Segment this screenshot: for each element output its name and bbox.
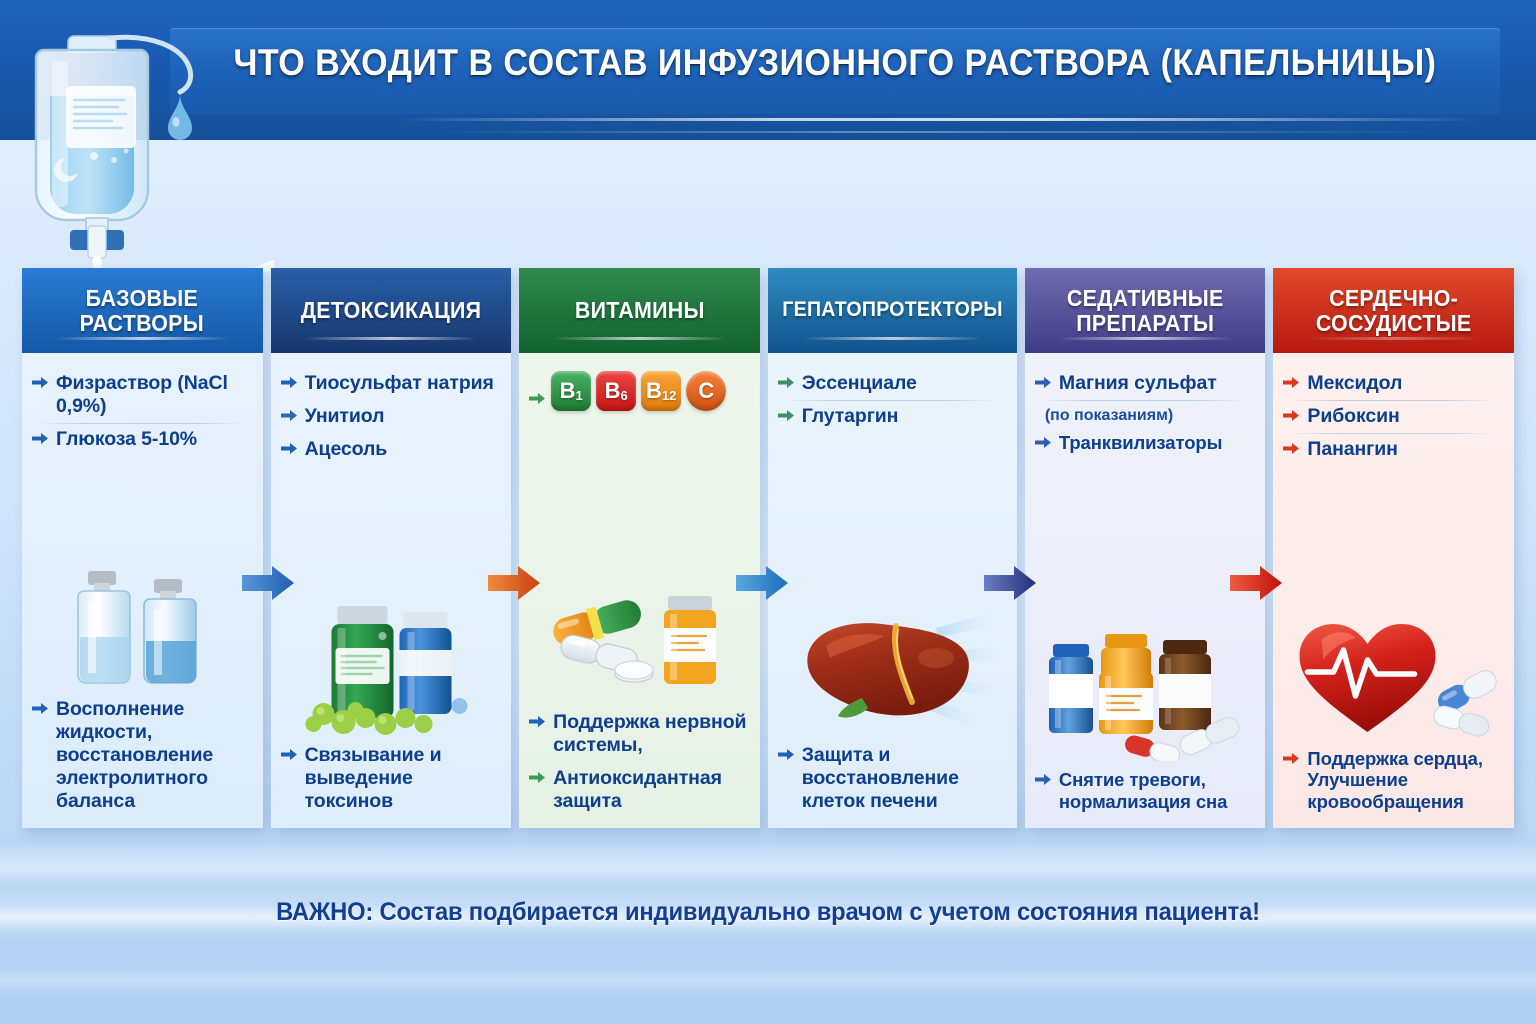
vitamin-badge-label: B (560, 378, 576, 404)
item-list: Эссенциале Глутаргин (778, 367, 1005, 433)
arrow-bullet-icon (281, 376, 298, 389)
column-header-base-solutions: БАЗОВЫЕ РАСТВОРЫ (22, 268, 263, 353)
header-shine (553, 337, 726, 340)
item-list: Тиосульфат натрия Унитиол Ацесоль (281, 367, 500, 466)
outcome-row: Восполнение жидкости, восстановление эле… (32, 694, 251, 818)
outcome-row: Снятие тревоги, нормализация сна (1035, 765, 1254, 818)
arrow-bullet-icon (32, 702, 49, 715)
arrow-5-6 (1230, 562, 1292, 604)
vitamin-badge-b1: B1 (551, 371, 591, 411)
column-vitamins[interactable]: ВИТАМИНЫ B1 B6 B12 C (519, 268, 760, 828)
list-item[interactable]: Эссенциале (778, 367, 1005, 400)
list-item-label: Тиосульфат натрия (305, 372, 494, 395)
item-list: Физраствор (NaCl 0,9%) Глюкоза 5-10% (32, 367, 251, 456)
outcome-label: Снятие тревоги, нормализация сна (1059, 769, 1254, 813)
arrow-4-5 (984, 562, 1046, 604)
arrow-bullet-icon (32, 432, 49, 445)
outcome-label: Поддержка сердца, Улучшение кровообращен… (1307, 748, 1502, 813)
list-item[interactable]: Глюкоза 5-10% (32, 423, 251, 456)
arrow-bullet-icon (32, 376, 49, 389)
background-streak (0, 965, 1536, 995)
arrow-bullet-icon (1283, 409, 1300, 422)
list-item-label: Физраствор (NaCl 0,9%) (56, 372, 251, 418)
list-item-label: Унитиол (305, 405, 385, 428)
item-list: Магния сульфат (по показаниям) Транквили… (1035, 367, 1254, 458)
green-blue-bottles-sorbent-icon (281, 466, 500, 740)
column-header-detoxication: ДЕТОКСИКАЦИЯ (271, 268, 512, 353)
arrow-bullet-icon (1283, 752, 1300, 765)
list-item[interactable]: Рибоксин (1283, 400, 1502, 433)
arrow-bullet-icon (778, 376, 795, 389)
category-columns: БАЗОВЫЕ РАСТВОРЫ Физраствор (NaCl 0,9%) … (22, 268, 1514, 828)
column-cardiovascular[interactable]: СЕРДЕЧНО- СОСУДИСТЫЕ Мексидол Рибоксин (1273, 268, 1514, 828)
column-title: ДЕТОКСИКАЦИЯ (301, 298, 482, 323)
arrow-bullet-icon (778, 748, 795, 761)
arrow-bullet-icon (1035, 376, 1052, 389)
column-header-cardiovascular: СЕРДЕЧНО- СОСУДИСТЫЕ (1273, 268, 1514, 353)
outcome-row: Антиоксидантная защита (529, 762, 748, 818)
iv-drip-bag-icon (14, 8, 274, 308)
list-item-label: Панангин (1307, 438, 1397, 461)
arrow-2-3 (488, 562, 550, 604)
vitamin-badge-label: B (605, 378, 621, 404)
vitamin-badge-sub: 12 (662, 388, 676, 403)
page-title: ЧТО ВХОДИТ В СОСТАВ ИНФУЗИОННОГО РАСТВОР… (223, 42, 1447, 84)
outcome-row: Поддержка нервной системы, (529, 706, 748, 762)
column-header-vitamins: ВИТАМИНЫ (519, 268, 760, 353)
list-item[interactable]: Магния сульфат (1035, 367, 1254, 400)
column-title: СЕДАТИВНЫЕ ПРЕПАРАТЫ (1067, 286, 1224, 336)
liver-icon (778, 433, 1005, 740)
column-hepatoprotectors[interactable]: ГЕПАТОПРОТЕКТОРЫ Эссенциале Глутаргин (768, 268, 1017, 828)
column-body: Эссенциале Глутаргин (768, 353, 1017, 828)
outcome-row: Поддержка сердца, Улучшение кровообращен… (1283, 744, 1502, 818)
column-base-solutions[interactable]: БАЗОВЫЕ РАСТВОРЫ Физраствор (NaCl 0,9%) … (22, 268, 263, 828)
list-item-label: Рибоксин (1307, 405, 1399, 428)
outcome-label: Защита и восстановление клеток печени (802, 744, 1005, 813)
list-item[interactable]: Глутаргин (778, 400, 1005, 433)
arrow-bullet-icon (529, 771, 546, 784)
footer-note: ВАЖНО: Состав подбирается индивидуально … (38, 898, 1497, 927)
column-header-sedatives: СЕДАТИВНЫЕ ПРЕПАРАТЫ (1025, 268, 1266, 353)
column-body: Мексидол Рибоксин Панангин (1273, 353, 1514, 828)
list-item-note: (по показаниям) (1035, 405, 1173, 425)
header-underline (400, 118, 1480, 121)
vitamin-badge-b6: B6 (596, 371, 636, 411)
list-item-label: Эссенциале (802, 372, 917, 395)
vitamin-badge-sub: 6 (620, 388, 627, 403)
list-item[interactable]: Панангин (1283, 433, 1502, 466)
outcome-label: Восполнение жидкости, восстановление эле… (56, 698, 251, 813)
column-title: БАЗОВЫЕ РАСТВОРЫ (80, 286, 204, 336)
list-item-label: Магния сульфат (1059, 372, 1217, 395)
vitamin-badge-label: C (698, 378, 714, 404)
arrow-3-4 (736, 562, 798, 604)
arrow-bullet-icon (1283, 376, 1300, 389)
list-item-label: Мексидол (1307, 372, 1402, 395)
arrow-bullet-icon (281, 409, 298, 422)
outcome-label: Поддержка нервной системы, (553, 711, 748, 757)
column-sedatives[interactable]: СЕДАТИВНЫЕ ПРЕПАРАТЫ Магния сульфат (по … (1025, 268, 1266, 828)
arrow-bullet-icon (529, 715, 546, 728)
arrow-bullet-icon (778, 409, 795, 422)
list-item[interactable]: Тиосульфат натрия (281, 367, 500, 400)
list-item[interactable]: Ацесоль (281, 433, 500, 466)
column-body: Физраствор (NaCl 0,9%) Глюкоза 5-10% (22, 353, 263, 828)
column-title: ГЕПАТОПРОТЕКТОРЫ (782, 299, 1003, 322)
list-item-label: Глутаргин (802, 405, 899, 428)
header-shine (1059, 337, 1232, 340)
sedative-bottles-icon (1035, 458, 1254, 765)
capsules-tablets-bottle-icon (529, 413, 748, 702)
vitamin-badge-c: C (686, 371, 726, 411)
infographic-poster: ЧТО ВХОДИТ В СОСТАВ ИНФУЗИОННОГО РАСТВОР… (0, 0, 1536, 1024)
outcome-label: Антиоксидантная защита (553, 767, 748, 813)
list-item[interactable]: (по показаниям) Транквилизаторы (1035, 400, 1254, 458)
arrow-bullet-icon (281, 442, 298, 455)
list-item[interactable]: Унитиол (281, 400, 500, 433)
list-item-label: Ацесоль (305, 438, 388, 461)
list-item[interactable]: Физраствор (NaCl 0,9%) (32, 367, 251, 423)
item-list: Мексидол Рибоксин Панангин (1283, 367, 1502, 466)
arrow-1-2 (242, 562, 304, 604)
header-shine (1307, 337, 1480, 340)
column-title: ВИТАМИНЫ (575, 298, 705, 323)
column-body: B1 B6 B12 C (519, 353, 760, 828)
outcome-list: Поддержка нервной системы, Антиоксидантн… (529, 702, 748, 818)
list-item-label: Транквилизаторы (1059, 432, 1222, 454)
arrow-bullet-icon (1283, 442, 1300, 455)
column-detoxication[interactable]: ДЕТОКСИКАЦИЯ Тиосульфат натрия Унитиол (271, 268, 512, 828)
arrow-bullet-icon (1035, 773, 1052, 786)
two-infusion-bottles-icon (32, 456, 251, 694)
arrow-bullet-icon (529, 392, 546, 405)
arrow-bullet-icon (1035, 436, 1052, 449)
vitamin-badge-label: B (646, 378, 662, 404)
header-shine (56, 337, 229, 340)
vitamin-badge-sub: 1 (575, 388, 582, 403)
outcome-row: Связывание и выведение токсинов (281, 740, 500, 818)
outcome-label: Связывание и выведение токсинов (305, 744, 500, 813)
column-title: СЕРДЕЧНО- СОСУДИСТЫЕ (1316, 286, 1472, 336)
vitamin-badge-b12: B12 (641, 371, 681, 411)
header-underline-secondary (430, 131, 1450, 133)
outcome-row: Защита и восстановление клеток печени (778, 740, 1005, 818)
arrow-bullet-icon (281, 748, 298, 761)
column-header-hepatoprotectors: ГЕПАТОПРОТЕКТОРЫ (768, 268, 1017, 353)
header-shine (304, 337, 477, 340)
list-item[interactable]: Мексидол (1283, 367, 1502, 400)
header-shine (803, 337, 982, 340)
vitamin-badge-row: B1 B6 B12 C (529, 367, 748, 413)
list-item-label: Глюкоза 5-10% (56, 428, 197, 451)
heart-ecg-capsule-icon (1283, 466, 1502, 744)
column-body: Тиосульфат натрия Унитиол Ацесоль (271, 353, 512, 828)
